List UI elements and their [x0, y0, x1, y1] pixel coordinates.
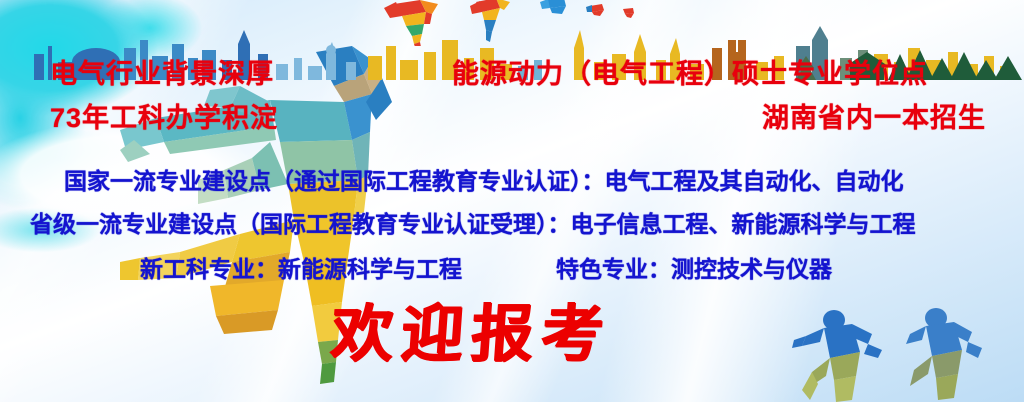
call-to-action-text: 欢迎报考: [329, 283, 615, 373]
headline-right-line-1: 能源动力（电气工程）硕士专业学位点: [452, 52, 928, 91]
program-line-provincial-first-class: 省级一流专业建设点（国际工程教育专业认证受理）：电子信息工程、新能源科学与工程: [30, 205, 916, 239]
program-line-national-first-class: 国家一流专业建设点（通过国际工程教育专业认证）：电气工程及其自动化、自动化: [64, 162, 904, 196]
running-athletes-illustration: [790, 300, 1024, 402]
recruitment-banner: 电气行业背景深厚 73年工科办学积淀 能源动力（电气工程）硕士专业学位点 湖南省…: [0, 0, 1024, 402]
headline-right-line-2: 湖南省内一本招生: [762, 96, 986, 135]
program-line-new-engineering: 新工科专业：新能源科学与工程: [140, 250, 462, 284]
program-line-featured-major: 特色专业：测控技术与仪器: [556, 250, 832, 284]
skiers-icon: [380, 0, 660, 46]
headline-left-line-2: 73年工科办学积淀: [50, 96, 278, 135]
headline-left-line-1: 电气行业背景深厚: [50, 52, 274, 91]
